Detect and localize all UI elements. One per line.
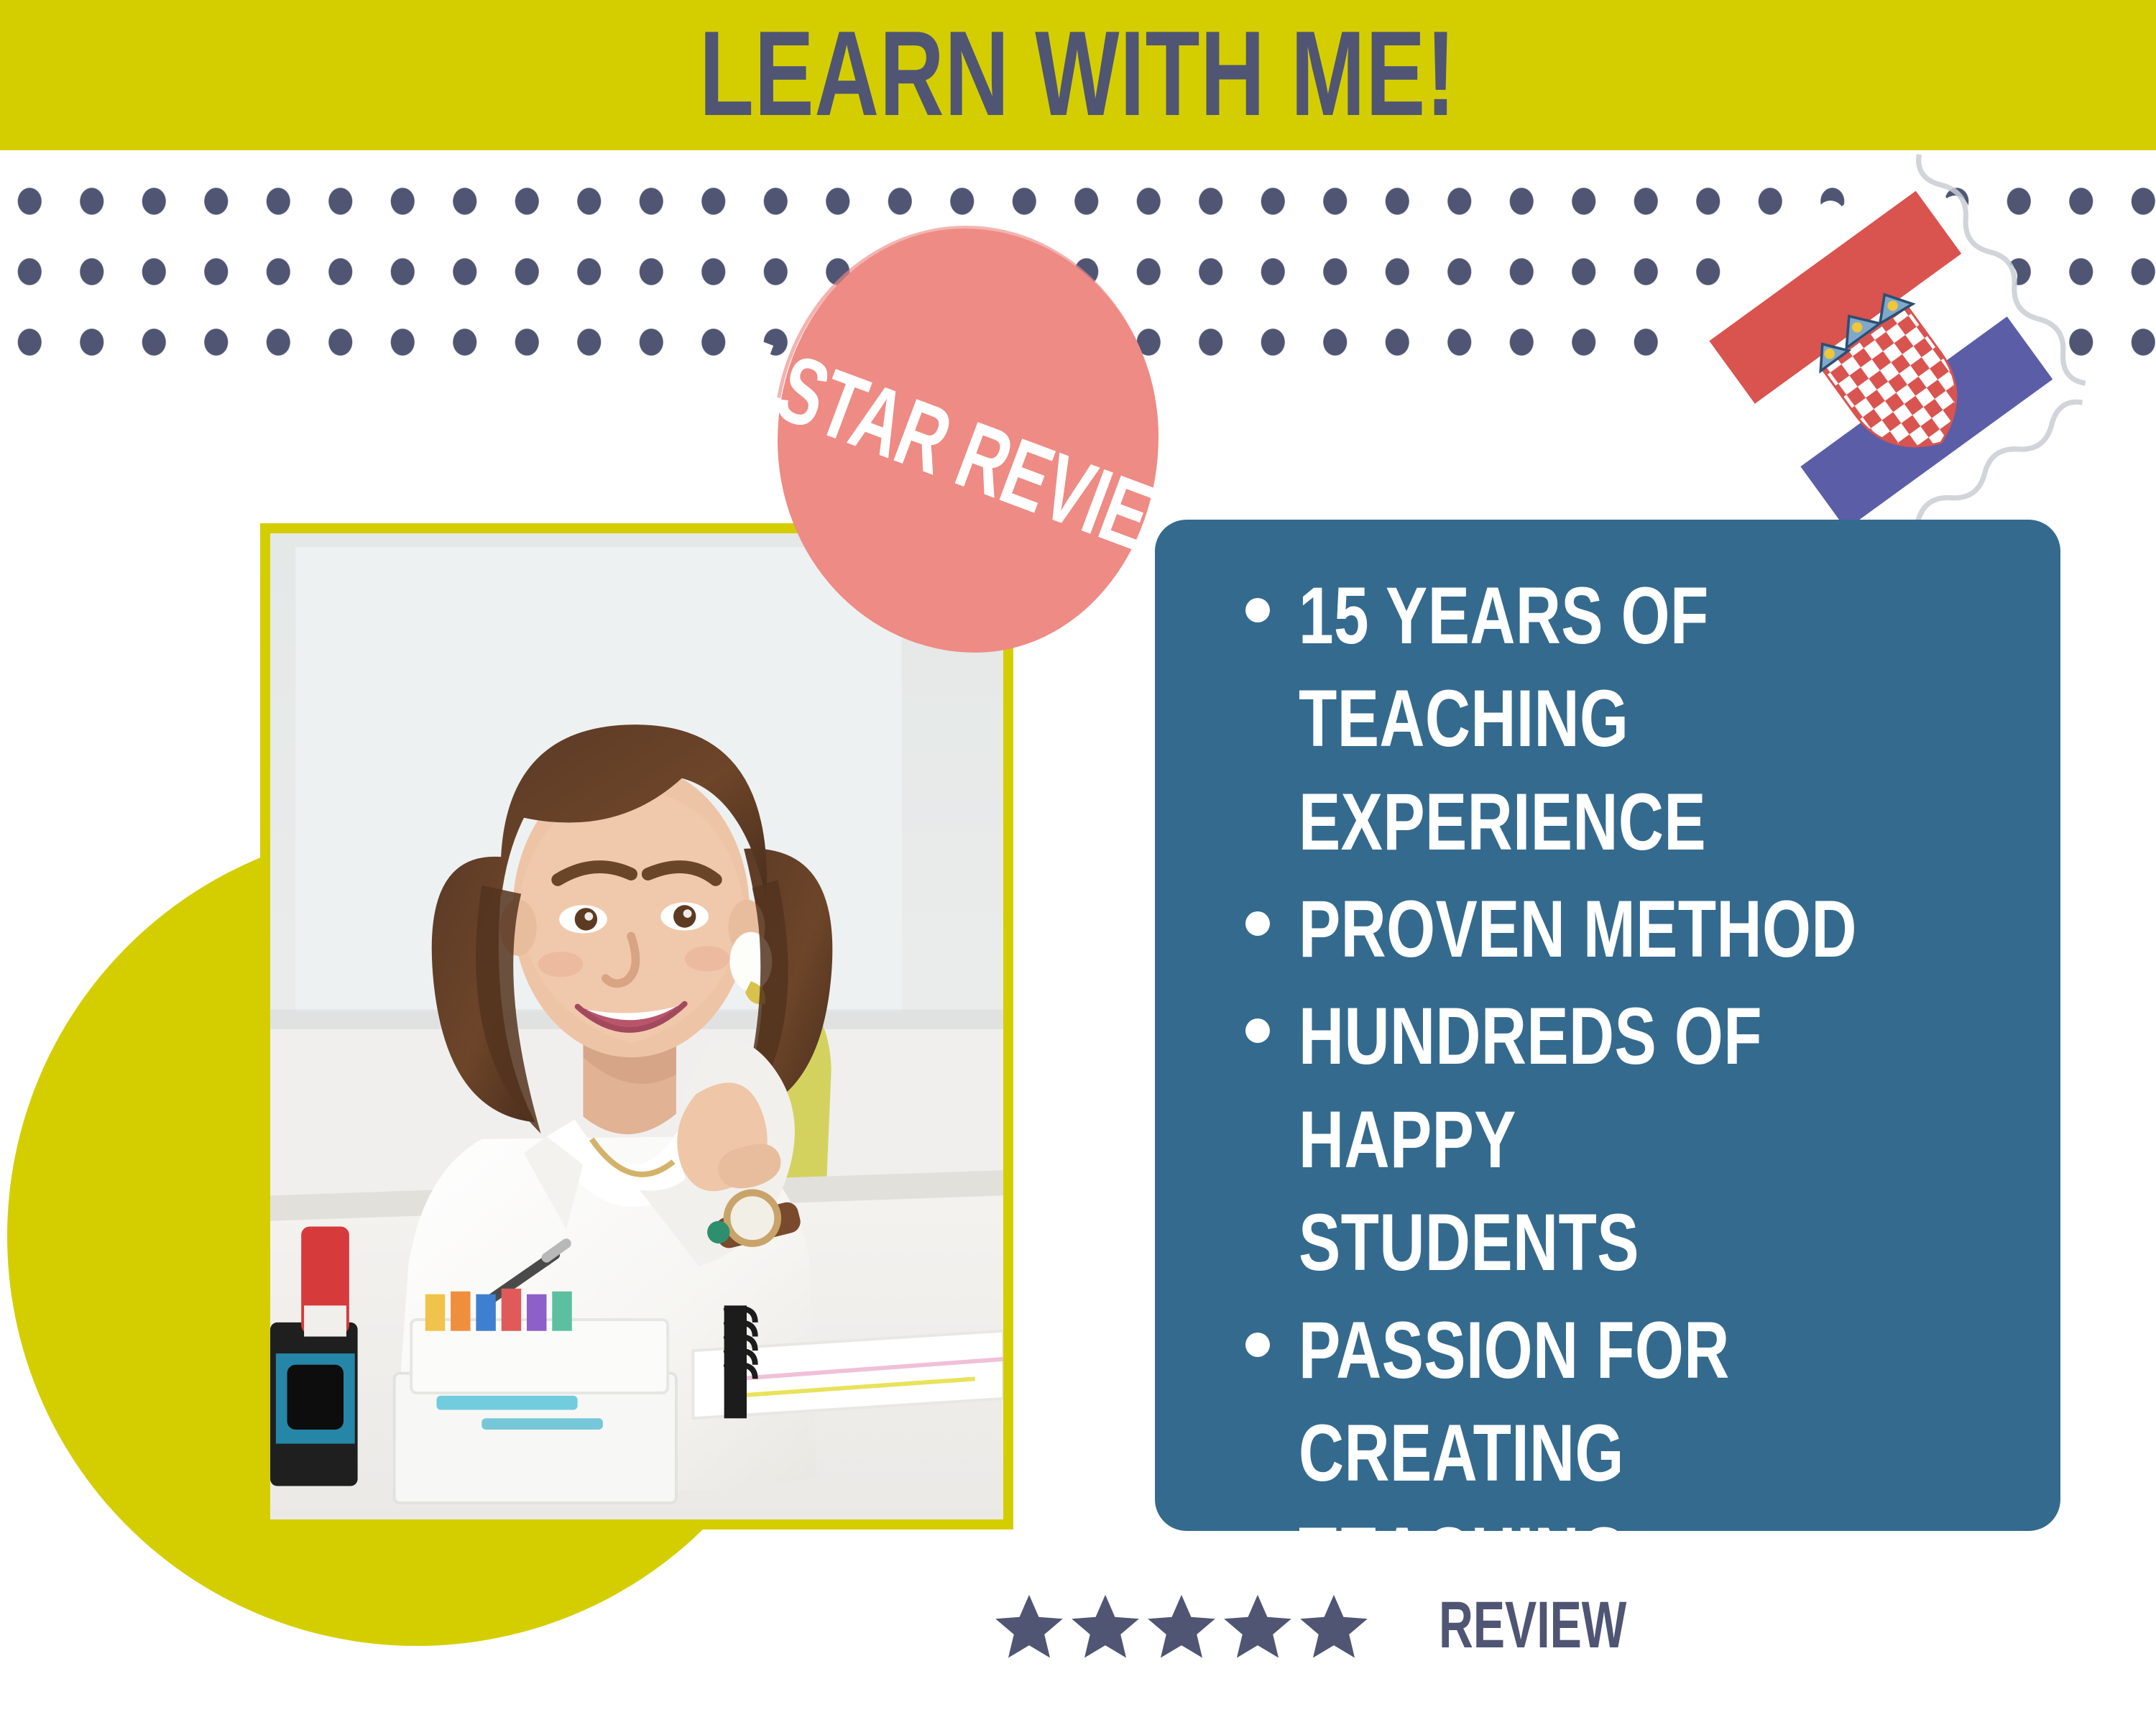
star-icon	[1220, 1590, 1295, 1665]
bullet-dot-icon	[1245, 1333, 1270, 1357]
list-item: PROVEN METHOD	[1192, 878, 2023, 980]
list-item: HUNDREDS OF HAPPY STUDENTS	[1192, 985, 2023, 1294]
star-icon	[992, 1590, 1067, 1665]
bullet-dot-icon	[1245, 911, 1270, 936]
star-icon	[1068, 1590, 1143, 1665]
bullet-dot-icon	[1245, 1018, 1270, 1043]
star-rating: REVIEW	[992, 1590, 1700, 1665]
star-icon	[1296, 1590, 1371, 1665]
benefits-panel: 15 YEARS OF TEACHING EXPERIENCE PROVEN M…	[1155, 520, 2060, 1531]
teacher-photo	[270, 533, 1003, 1519]
five-star-review-badge: 5 STAR REVIEW	[778, 229, 1158, 653]
benefits-list: 15 YEARS OF TEACHING EXPERIENCE PROVEN M…	[1192, 564, 2023, 1711]
teacher-photo-frame	[260, 523, 1013, 1529]
page-title: LEARN WITH ME!	[699, 13, 1456, 134]
list-item: 15 YEARS OF TEACHING EXPERIENCE	[1192, 564, 2023, 873]
bullet-dot-icon	[1245, 598, 1270, 622]
poster-canvas: LEARN WITH ME!	[0, 0, 2156, 1725]
bullet-label: 15 YEARS OF TEACHING EXPERIENCE	[1299, 564, 1864, 873]
header-band: LEARN WITH ME!	[0, 0, 2156, 150]
star-icon	[1144, 1590, 1219, 1665]
bullet-label: PROVEN METHOD	[1299, 878, 1864, 980]
bullet-label: HUNDREDS OF HAPPY STUDENTS	[1299, 985, 1864, 1294]
review-label: REVIEW	[1439, 1592, 1626, 1658]
